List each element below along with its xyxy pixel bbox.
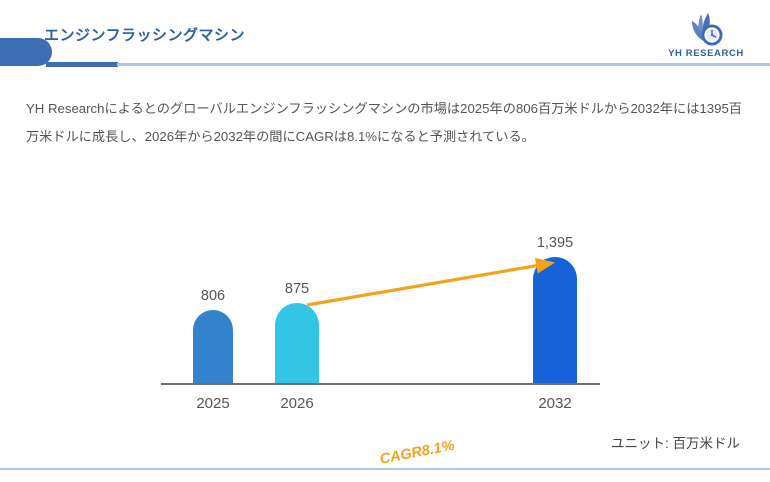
footer-rule <box>0 468 770 470</box>
page-header: エンジンフラッシングマシン YH RESEARCH <box>0 0 770 78</box>
yh-research-logo-icon <box>684 12 730 48</box>
market-growth-bar-chart: 806 875 1,395 2025 2026 2032 CAGR8.1% <box>0 200 770 430</box>
chart-unit-note: ユニット: 百万米ドル <box>611 432 740 452</box>
market-summary-paragraph: YH Researchによるとのグローバルエンジンフラッシングマシンの市場は20… <box>26 95 742 151</box>
header-rule-dark <box>46 62 118 67</box>
brand-logo: YH RESEARCH <box>658 12 754 64</box>
chart-plot-area: 806 875 1,395 2025 2026 2032 <box>0 200 770 430</box>
cagr-annotation-label: CAGR8.1% <box>378 438 455 468</box>
page-title: エンジンフラッシングマシン <box>44 24 245 45</box>
cagr-arrow-icon <box>0 200 770 430</box>
logo-wordmark: YH RESEARCH <box>658 48 754 59</box>
